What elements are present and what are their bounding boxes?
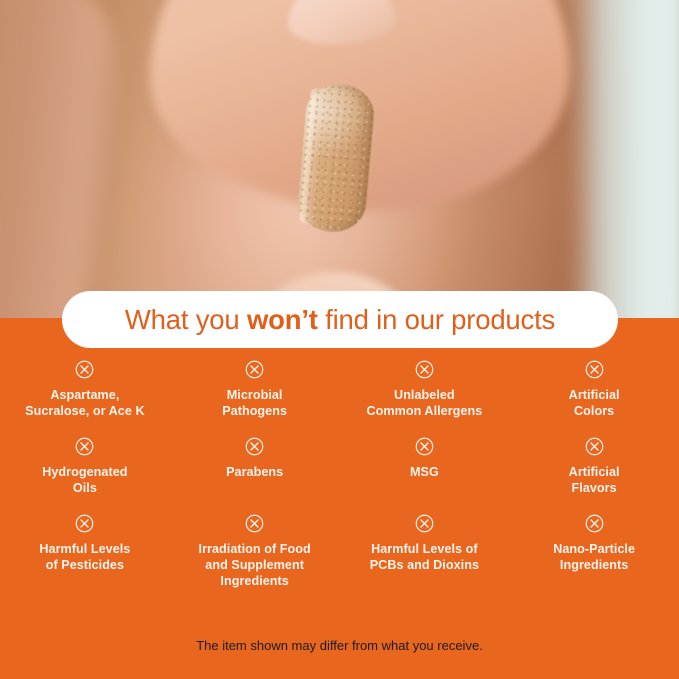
excluded-ingredient-label: Aspartame, Sucralose, or Ace K — [25, 388, 144, 419]
headline-prefix: What you — [125, 304, 247, 335]
circle-x-icon — [585, 437, 604, 456]
photo-tablet — [296, 81, 377, 234]
photo-tablet-speckles — [296, 81, 377, 234]
excluded-ingredient-item: Aspartame, Sucralose, or Ace K — [0, 360, 170, 419]
excluded-ingredient-item: Artificial Flavors — [509, 437, 679, 496]
excluded-ingredient-item: Microbial Pathogens — [170, 360, 340, 419]
headline-banner: What you won’t find in our products — [62, 291, 618, 348]
excluded-ingredients-grid: Aspartame, Sucralose, or Ace KMicrobial … — [0, 360, 679, 589]
circle-x-icon — [585, 514, 604, 533]
circle-x-icon — [415, 514, 434, 533]
circle-x-icon — [415, 437, 434, 456]
headline-suffix: find in our products — [318, 304, 555, 335]
headline-emphasis: won’t — [247, 304, 318, 335]
excluded-ingredient-label: Hydrogenated Oils — [42, 465, 127, 496]
excluded-ingredient-label: Harmful Levels of Pesticides — [39, 542, 130, 573]
circle-x-icon — [75, 437, 94, 456]
excluded-ingredient-label: Parabens — [226, 465, 283, 481]
excluded-ingredient-item: Unlabeled Common Allergens — [340, 360, 510, 419]
excluded-ingredient-label: Irradiation of Food and Supplement Ingre… — [199, 542, 311, 589]
circle-x-icon — [415, 360, 434, 379]
excluded-ingredient-item: Artificial Colors — [509, 360, 679, 419]
circle-x-icon — [245, 437, 264, 456]
excluded-ingredient-label: Harmful Levels of PCBs and Dioxins — [370, 542, 479, 573]
circle-x-icon — [245, 360, 264, 379]
excluded-ingredient-item: Harmful Levels of PCBs and Dioxins — [340, 514, 510, 589]
excluded-ingredient-item: Hydrogenated Oils — [0, 437, 170, 496]
excluded-ingredient-item: Nano-Particle Ingredients — [509, 514, 679, 589]
excluded-ingredient-item: Irradiation of Food and Supplement Ingre… — [170, 514, 340, 589]
excluded-ingredient-label: MSG — [410, 465, 439, 481]
excluded-ingredient-label: Nano-Particle Ingredients — [553, 542, 635, 573]
excluded-ingredient-label: Unlabeled Common Allergens — [366, 388, 482, 419]
circle-x-icon — [585, 360, 604, 379]
product-photo — [0, 0, 679, 318]
excluded-ingredient-item: Harmful Levels of Pesticides — [0, 514, 170, 589]
page-title: What you won’t find in our products — [125, 304, 555, 336]
circle-x-icon — [245, 514, 264, 533]
promotional-infographic: What you won’t find in our products Aspa… — [0, 0, 679, 679]
disclaimer-text: The item shown may differ from what you … — [0, 638, 679, 653]
excluded-ingredient-item: MSG — [340, 437, 510, 496]
excluded-ingredient-label: Microbial Pathogens — [222, 388, 287, 419]
circle-x-icon — [75, 360, 94, 379]
photo-blue-highlight — [569, 0, 679, 318]
excluded-ingredient-label: Artificial Flavors — [569, 465, 620, 496]
excluded-ingredient-label: Artificial Colors — [569, 388, 620, 419]
circle-x-icon — [75, 514, 94, 533]
excluded-ingredient-item: Parabens — [170, 437, 340, 496]
